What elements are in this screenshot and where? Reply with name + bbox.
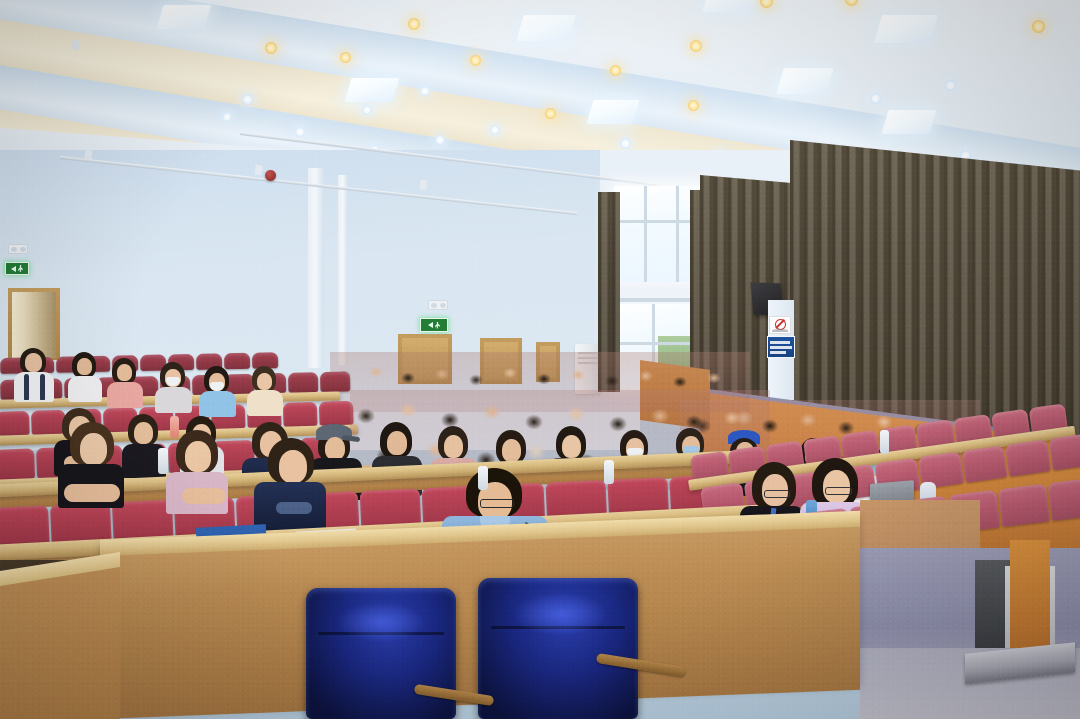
head bbox=[387, 431, 407, 455]
eyeglasses bbox=[825, 487, 852, 495]
aisle-pillar bbox=[1010, 540, 1050, 650]
torso bbox=[247, 390, 283, 416]
seat[interactable] bbox=[224, 353, 250, 370]
seat[interactable] bbox=[319, 401, 354, 426]
water-bottle bbox=[158, 448, 168, 474]
ceiling-downlight bbox=[760, 0, 773, 8]
seat[interactable] bbox=[0, 411, 30, 436]
ceiling-downlight bbox=[420, 86, 430, 96]
ceiling-downlight bbox=[470, 55, 481, 66]
head bbox=[134, 422, 153, 444]
head bbox=[25, 353, 42, 372]
ceiling-downlight bbox=[222, 112, 232, 122]
strap bbox=[40, 374, 45, 400]
front-chair-left[interactable] bbox=[306, 588, 456, 719]
seat[interactable] bbox=[320, 371, 350, 392]
torso bbox=[107, 382, 143, 408]
water-bottle bbox=[170, 416, 179, 438]
head bbox=[257, 373, 272, 390]
ceiling-downlight bbox=[265, 42, 277, 54]
ceiling-downlight bbox=[1032, 20, 1045, 33]
seat[interactable] bbox=[288, 372, 318, 393]
ceiling-downlight bbox=[688, 100, 699, 111]
head bbox=[562, 435, 581, 458]
shirt-print bbox=[276, 502, 312, 514]
track-light-head bbox=[419, 180, 427, 191]
ceiling-downlight bbox=[690, 40, 702, 52]
track-light-head bbox=[71, 40, 79, 51]
ceiling-panel-light bbox=[345, 78, 400, 102]
front-chair-right[interactable] bbox=[478, 578, 638, 719]
ceiling-panel-light bbox=[587, 100, 640, 124]
seat[interactable] bbox=[1047, 477, 1080, 521]
seat[interactable] bbox=[1005, 439, 1051, 477]
seat[interactable] bbox=[283, 402, 318, 427]
head bbox=[77, 358, 92, 375]
water-bottle bbox=[880, 430, 889, 454]
ceiling-downlight bbox=[435, 135, 445, 145]
water-bottle bbox=[478, 466, 488, 490]
strap bbox=[24, 374, 29, 400]
ceiling-panel-light bbox=[882, 110, 937, 134]
torso bbox=[68, 376, 102, 402]
head bbox=[80, 433, 107, 465]
ceiling-downlight bbox=[620, 138, 631, 149]
running-man-icon bbox=[18, 265, 23, 272]
ceiling-panel-light bbox=[874, 15, 938, 43]
seat[interactable] bbox=[1049, 433, 1080, 471]
chair-highlight bbox=[336, 602, 426, 642]
seat[interactable] bbox=[0, 448, 35, 480]
ceiling-downlight bbox=[295, 127, 305, 137]
eyeglasses bbox=[764, 490, 790, 498]
window-mullion bbox=[644, 186, 647, 282]
track-light-head bbox=[84, 150, 92, 161]
torso bbox=[199, 391, 236, 417]
head bbox=[279, 450, 307, 483]
ceiling-downlight bbox=[545, 108, 556, 119]
running-man-icon bbox=[435, 322, 440, 329]
head bbox=[444, 435, 463, 458]
head bbox=[117, 364, 132, 381]
emergency-light-icon bbox=[8, 244, 28, 254]
ceiling-panel-light bbox=[157, 5, 212, 29]
ceiling-panel-light bbox=[776, 68, 833, 94]
seat[interactable] bbox=[31, 410, 66, 435]
ceiling-panel-light bbox=[702, 0, 764, 12]
ceiling-downlight bbox=[362, 105, 372, 115]
ceiling-downlight bbox=[870, 93, 881, 104]
water-bottle bbox=[604, 460, 614, 484]
ceiling-panel-light bbox=[516, 15, 575, 41]
track-light-head bbox=[254, 165, 262, 176]
exit-arrow-icon bbox=[428, 322, 433, 328]
chair-highlight bbox=[512, 592, 608, 636]
head bbox=[325, 437, 345, 460]
torso bbox=[14, 372, 54, 402]
ceiling-downlight bbox=[490, 125, 500, 135]
seat[interactable] bbox=[961, 445, 1007, 483]
ceiling-downlight bbox=[408, 18, 420, 30]
fire-alarm-bell-icon bbox=[265, 170, 276, 181]
ceiling-downlight bbox=[242, 94, 253, 105]
ceiling-downlight bbox=[610, 65, 621, 76]
ceiling-downlight bbox=[945, 80, 956, 91]
seat[interactable] bbox=[998, 484, 1050, 528]
exit-sign-icon bbox=[5, 262, 29, 275]
eyeglasses bbox=[480, 499, 514, 508]
window-mullion bbox=[676, 186, 679, 282]
exit-arrow-icon bbox=[11, 266, 16, 272]
torso bbox=[155, 387, 192, 413]
foreground-desk-left bbox=[0, 560, 120, 719]
emergency-light-icon bbox=[428, 300, 448, 310]
ceiling-downlight bbox=[845, 0, 858, 6]
head bbox=[502, 439, 521, 462]
arm bbox=[64, 484, 120, 502]
head bbox=[185, 441, 211, 472]
arm bbox=[182, 488, 226, 504]
lecture-hall-photo bbox=[0, 0, 1080, 719]
ceiling-downlight bbox=[340, 52, 351, 63]
